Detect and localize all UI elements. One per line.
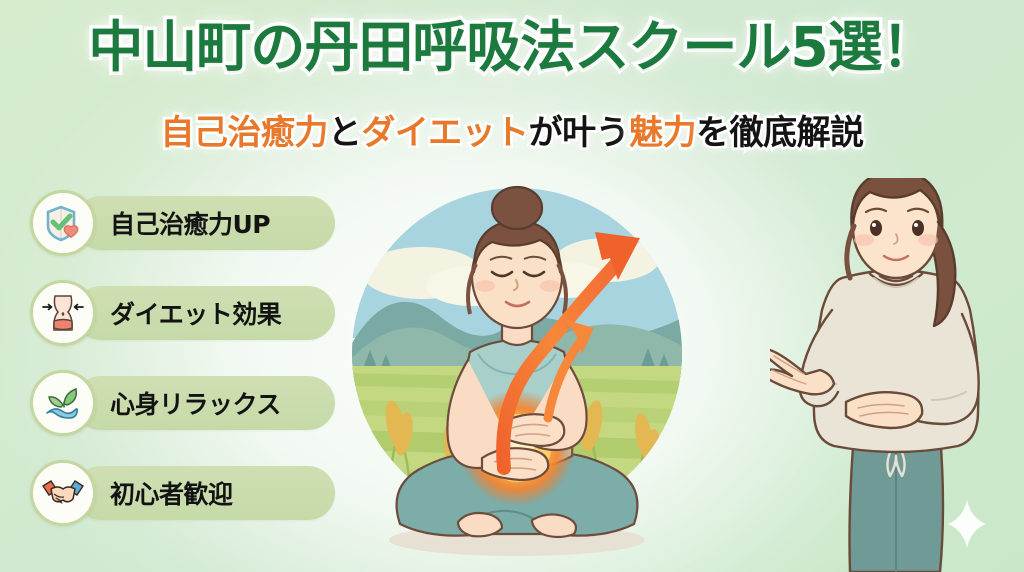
badge-diet-effect: ダイエット効果	[30, 280, 320, 346]
subtitle-part-2: と	[328, 113, 362, 153]
subtitle-part-4: が叶う	[529, 113, 630, 153]
badge-label: 初心者歓迎	[110, 466, 233, 520]
header: 中山町の丹田呼吸法スクール5選！	[0, 18, 1024, 76]
benefit-badge-list: 自己治癒力UP ダイエット効果	[30, 190, 320, 550]
badge-relaxation: 心身リラックス	[30, 370, 320, 436]
badge-label: ダイエット効果	[110, 286, 281, 340]
subtitle-part-1: 自己治癒力	[160, 113, 328, 153]
badge-label: 自己治癒力UP	[110, 196, 270, 250]
page-subtitle: 自己治癒力とダイエットが叶う魅力を徹底解説	[0, 105, 1024, 154]
subtitle-part-6: を徹底解説	[696, 113, 864, 153]
badge-self-healing: 自己治癒力UP	[30, 190, 320, 256]
sparkle-icon	[946, 498, 988, 550]
poster-canvas: 中山町の丹田呼吸法スクール5選！ 自己治癒力とダイエットが叶う魅力を徹底解説 自…	[0, 0, 1024, 572]
leaf-water-icon	[30, 370, 96, 436]
handshake-icon	[30, 460, 96, 526]
main-illustration	[352, 168, 682, 572]
subtitle-part-5: 魅力	[629, 113, 696, 153]
subtitle-part-3: ダイエット	[361, 113, 528, 153]
badge-beginner-welcome: 初心者歓迎	[30, 460, 320, 526]
page-title: 中山町の丹田呼吸法スクール5選！	[88, 18, 935, 76]
badge-label: 心身リラックス	[110, 376, 281, 430]
shield-check-heart-icon	[30, 190, 96, 256]
slim-waist-icon	[30, 280, 96, 346]
